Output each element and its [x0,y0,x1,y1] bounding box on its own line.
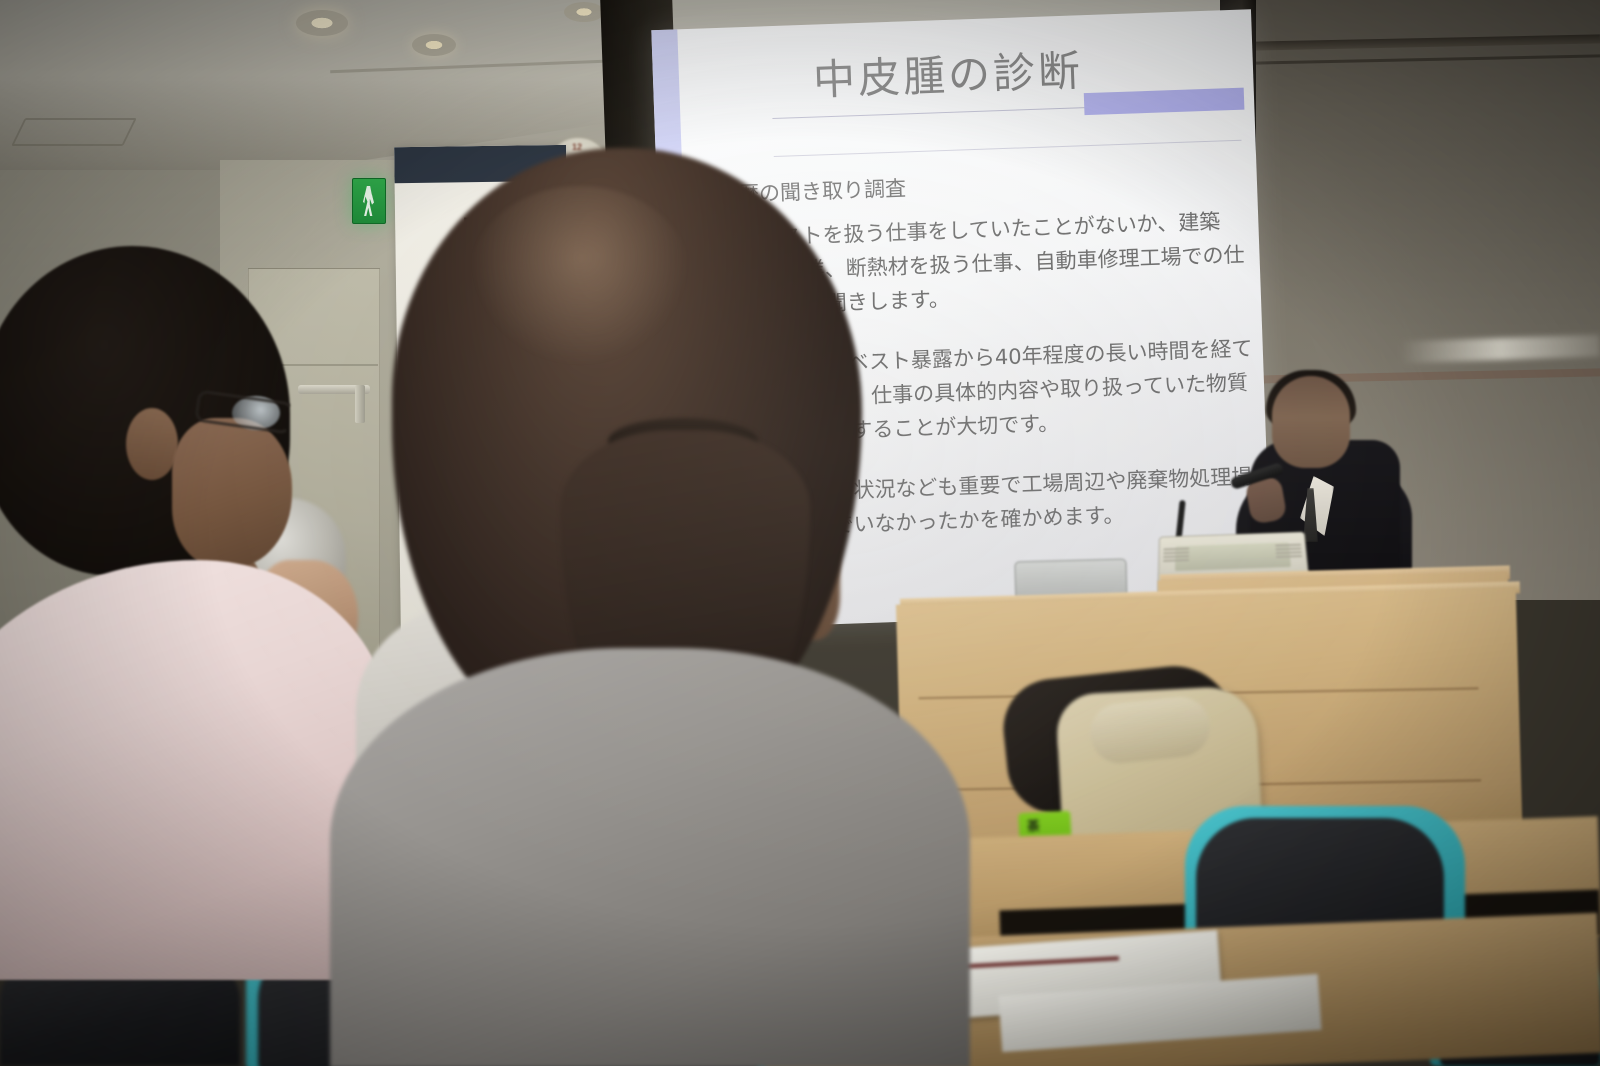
downlight-icon [296,10,348,36]
paper-heading-line [959,956,1119,968]
slide-bullet-heading: 職歴の聞き取り調査 [716,159,1257,212]
man-ear [126,408,178,480]
door-handle-vertical[interactable] [355,385,365,423]
downlight-icon [412,34,456,56]
running-man-glyph [363,186,374,216]
slide-secondary-rule [774,140,1242,157]
speaker-head [1272,376,1350,468]
crt-monitor-screen [1175,542,1291,571]
slide-accent-block [1084,88,1245,116]
downlight-icon [564,2,604,22]
slide-title: 中皮腫の診断 [812,37,1084,107]
hair-highlight [470,186,690,366]
ceiling-panel [11,118,137,146]
man-face [172,418,292,568]
crt-vent-right [1275,544,1302,560]
lecture-hall-photograph: 12 1 2 3 中皮腫の診断 職歴の聞き取り調査 アスベストを扱う仕事をしてい… [0,0,1600,1066]
woman-grey-sweater [330,648,970,1066]
emergency-exit-sign-icon [352,178,386,224]
crt-vent-left [1163,548,1189,564]
